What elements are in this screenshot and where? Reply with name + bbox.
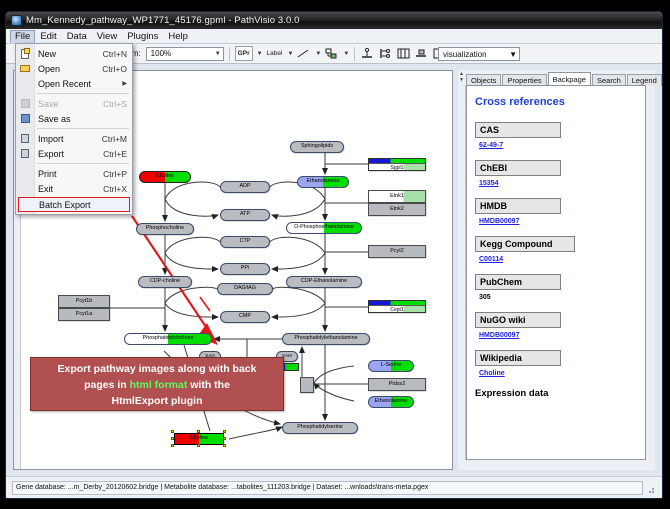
file-menu-dropdown[interactable]: New Ctrl+N Open Ctrl+O Open Recent ▶ Sav…	[15, 43, 133, 215]
line-icon	[297, 48, 310, 59]
gene-box-etnk1[interactable]: Etnk1	[368, 190, 426, 203]
sidebar: ▲ ▼ Objects Properties Backpage Search L…	[458, 70, 655, 470]
file-menu-item-save-accel: Ctrl+S	[103, 99, 127, 109]
cross-references-heading: Cross references	[475, 96, 637, 108]
node-ctp[interactable]: CTP	[220, 236, 270, 248]
node-phosphatidylcholines[interactable]: Phosphatidylcholines	[124, 333, 212, 345]
interaction-dropdown-icon[interactable]: ▼	[343, 51, 349, 57]
file-menu-item-new[interactable]: New Ctrl+N	[16, 46, 132, 61]
node-ethanolamine-2[interactable]: Ethanolamine	[368, 396, 414, 408]
xref-link-wikipedia[interactable]: Choline	[479, 370, 505, 377]
gene-box-pcyt1a[interactable]: Pcyt1a	[58, 308, 110, 321]
xref-link-nugo[interactable]: HMDB00097	[479, 332, 519, 339]
resize-handle-n[interactable]	[197, 430, 200, 433]
annotation-arrow-small	[200, 297, 210, 311]
file-menu-item-export-accel: Ctrl+E	[103, 149, 127, 159]
file-menu-item-exit-accel: Ctrl+X	[103, 184, 127, 194]
gene-box-sgpl1[interactable]: Sgpl1	[368, 158, 426, 171]
toolbar-separator	[229, 47, 230, 61]
file-menu-item-import-accel: Ctrl+M	[102, 134, 127, 144]
selected-node-group[interactable]: Choline	[174, 433, 224, 445]
datanode-dropdown-icon[interactable]: ▼	[257, 51, 263, 57]
file-menu-item-import-label: Import	[38, 134, 102, 144]
file-menu-item-batch-export[interactable]: Batch Export	[18, 197, 130, 212]
file-menu-item-open-label: Open	[38, 64, 102, 74]
zoom-combobox[interactable]: 100% ▼	[146, 47, 224, 61]
statusbar: Gene database: ...m_Derby_20120602.bridg…	[6, 476, 662, 498]
resize-handle-ne[interactable]	[223, 430, 226, 433]
align-top-icon	[361, 48, 374, 60]
node-ppi[interactable]: PPi	[220, 263, 270, 275]
visualization-combobox[interactable]: visualization ▼	[438, 47, 520, 61]
line-dropdown-icon[interactable]: ▼	[315, 51, 321, 57]
file-menu-item-new-accel: Ctrl+N	[103, 49, 127, 59]
xref-header-wikipedia: Wikipedia	[475, 350, 561, 366]
file-menu-separator-1	[37, 93, 129, 94]
file-menu-item-print-label: Print	[38, 169, 103, 179]
new-document-icon	[19, 48, 31, 59]
xref-link-cas[interactable]: 62-49-7	[479, 142, 503, 149]
application-window: Mm_Kennedy_pathway_WP1771_45176.gpml - P…	[5, 11, 663, 499]
xref-value-pubchem: 305	[479, 294, 637, 301]
gene-product-icon: GPr	[238, 50, 250, 57]
menu-view[interactable]: View	[92, 30, 122, 43]
annotation-callout: Export pathway images along with back pa…	[30, 357, 284, 411]
open-folder-icon	[19, 63, 31, 74]
node-cmp[interactable]: CMP	[220, 311, 270, 323]
node-choline[interactable]: Choline	[139, 171, 191, 183]
file-menu-item-open-recent-label: Open Recent	[38, 79, 122, 89]
node-phosphatidylethanolamine[interactable]: Phosphatidylethanolamine	[282, 333, 370, 345]
node-adp[interactable]: ADP	[220, 181, 270, 193]
save-disk-icon	[19, 98, 31, 109]
label-dropdown-icon[interactable]: ▼	[287, 51, 293, 57]
label-icon: Label	[267, 50, 283, 57]
sidebar-gutter	[458, 85, 466, 460]
tab-backpage[interactable]: Backpage	[548, 72, 591, 86]
callout-line-2c: with the	[187, 379, 230, 391]
xref-link-chebi[interactable]: 15354	[479, 180, 498, 187]
visualization-value: visualization	[443, 50, 487, 59]
xref-header-nugo: NuGO wiki	[475, 312, 561, 328]
shape-icon	[325, 48, 338, 60]
label-tool-button[interactable]: Label	[266, 46, 284, 61]
align-top-button[interactable]	[360, 46, 375, 61]
xref-value-chebi: 15354	[479, 180, 637, 187]
same-width-icon	[397, 48, 410, 60]
datanode-tool-button[interactable]: GPr	[235, 46, 253, 61]
sidebar-tabs: Objects Properties Backpage Search Legen…	[466, 71, 655, 86]
gene-box-pcyt1b[interactable]: Pcyt1b	[58, 295, 110, 308]
file-menu-item-new-label: New	[38, 49, 103, 59]
node-phosphocholine[interactable]: Phosphocholine	[136, 223, 194, 235]
xref-link-hmdb[interactable]: HMDB00097	[479, 218, 519, 225]
node-atp[interactable]: ATP	[220, 209, 270, 221]
xref-header-kegg: Kegg Compound	[475, 236, 575, 252]
menu-edit[interactable]: Edit	[35, 30, 61, 43]
file-menu-separator-2	[37, 128, 129, 129]
chevron-down-icon: ▼	[215, 51, 221, 57]
same-height-button[interactable]	[414, 46, 429, 61]
file-menu-separator-3	[37, 163, 129, 164]
save-as-icon	[19, 113, 31, 124]
same-width-button[interactable]	[396, 46, 411, 61]
file-menu-item-import[interactable]: Import Ctrl+M	[16, 131, 132, 146]
xref-value-nugo: HMDB00097	[479, 332, 637, 339]
gene-box-pcyt2[interactable]: Pcyt2	[368, 245, 426, 258]
resize-handle-se[interactable]	[223, 444, 226, 447]
callout-line-2: pages in html format with the	[31, 377, 283, 393]
menu-data[interactable]: Data	[62, 30, 92, 43]
resize-handle-s[interactable]	[197, 444, 200, 447]
gene-box-ptdss2[interactable]: Ptdss2	[368, 378, 426, 391]
xref-header-hmdb: HMDB	[475, 198, 561, 214]
file-menu-item-open-accel: Ctrl+O	[102, 64, 127, 74]
node-sphingolipids[interactable]: Sphingolipids	[290, 141, 344, 153]
node-cdp-choline[interactable]: CDP-choline	[138, 276, 192, 288]
menubar: File Edit Data View Plugins Help	[6, 29, 662, 44]
file-menu-item-open-recent[interactable]: Open Recent ▶	[16, 76, 132, 91]
xref-header-cas: CAS	[475, 122, 561, 138]
xref-link-kegg[interactable]: C00114	[479, 256, 503, 263]
window-titlebar: Mm_Kennedy_pathway_WP1771_45176.gpml - P…	[6, 12, 662, 29]
xref-header-chebi: ChEBI	[475, 160, 561, 176]
gene-box-cept1[interactable]: Cept1	[368, 300, 426, 313]
file-menu-item-save: Save Ctrl+S	[16, 96, 132, 111]
file-menu-item-save-as[interactable]: Save as	[16, 111, 132, 126]
callout-line-3: HtmlExport plugin	[31, 393, 283, 409]
file-menu-item-exit-label: Exit	[38, 184, 103, 194]
node-o-phosphoethanolamine[interactable]: O-Phosphoethanolamine	[286, 222, 362, 234]
callout-highlight: html format	[130, 379, 188, 391]
window-title: Mm_Kennedy_pathway_WP1771_45176.gpml - P…	[26, 15, 300, 26]
xref-value-wikipedia: Choline	[479, 370, 637, 377]
file-menu-item-export[interactable]: Export Ctrl+E	[16, 146, 132, 161]
submenu-arrow-icon: ▶	[122, 80, 127, 87]
gene-box-anchor[interactable]	[300, 377, 314, 393]
resize-handle-e[interactable]	[223, 437, 226, 440]
resize-handle-sw[interactable]	[171, 444, 174, 447]
file-menu-item-save-as-label: Save as	[38, 114, 127, 124]
file-menu-item-exit[interactable]: Exit Ctrl+X	[16, 181, 132, 196]
status-text: Gene database: ...m_Derby_20120602.bridg…	[12, 481, 643, 495]
file-menu-item-open[interactable]: Open Ctrl+O	[16, 61, 132, 76]
menu-help[interactable]: Help	[163, 30, 193, 43]
resize-grip-icon[interactable]	[646, 482, 656, 494]
import-icon	[19, 133, 31, 144]
menu-plugins[interactable]: Plugins	[122, 30, 163, 43]
gene-box-etnk2[interactable]: Etnk2	[368, 203, 426, 216]
screenshot-frame: Mm_Kennedy_pathway_WP1771_45176.gpml - P…	[0, 0, 670, 509]
align-left-button[interactable]	[378, 46, 393, 61]
node-ethanolamine[interactable]: Ethanolamine	[297, 176, 349, 188]
zoom-value: 100%	[151, 49, 171, 58]
gene-box-cept1-label: Cept1	[369, 305, 425, 313]
app-icon	[11, 15, 22, 26]
toolbar-separator-2	[354, 47, 355, 61]
same-height-icon	[415, 48, 428, 60]
expression-data-heading: Expression data	[475, 388, 637, 399]
line-tool-button[interactable]	[296, 46, 311, 61]
xref-value-kegg: C00114	[479, 256, 637, 263]
xref-value-hmdb: HMDB00097	[479, 218, 637, 225]
interaction-tool-button[interactable]	[324, 46, 339, 61]
node-cdp-ethanolamine[interactable]: CDP-Ethanolamine	[286, 276, 362, 288]
callout-line-1: Export pathway images along with back	[31, 361, 283, 377]
align-left-icon	[379, 48, 392, 60]
resize-handle-nw[interactable]	[171, 430, 174, 433]
node-l-serine[interactable]: L-Serine	[368, 360, 414, 372]
resize-handle-w[interactable]	[171, 437, 174, 440]
file-menu-item-save-label: Save	[38, 99, 103, 109]
scroll-down-icon[interactable]: ▼	[458, 77, 465, 83]
backpage-panel: Cross references CAS 62-49-7 ChEBI 15354…	[466, 85, 646, 460]
file-menu-item-print[interactable]: Print Ctrl+P	[16, 166, 132, 181]
export-icon	[19, 148, 31, 159]
xref-header-pubchem: PubChem	[475, 274, 561, 290]
callout-line-2a: pages in	[84, 379, 130, 391]
file-menu-item-print-accel: Ctrl+P	[103, 169, 127, 179]
file-menu-item-batch-export-label: Batch Export	[39, 200, 91, 210]
node-phosphatidylserine[interactable]: Phosphatidylserine	[282, 422, 358, 434]
file-menu-item-export-label: Export	[38, 149, 103, 159]
node-dag-iag[interactable]: DAG⁄IAG	[217, 283, 273, 295]
menu-file[interactable]: File	[10, 30, 35, 43]
chevron-down-icon: ▼	[509, 50, 517, 59]
gene-box-sgpl1-label: Sgpl1	[369, 163, 425, 171]
xref-value-cas: 62-49-7	[479, 142, 637, 149]
